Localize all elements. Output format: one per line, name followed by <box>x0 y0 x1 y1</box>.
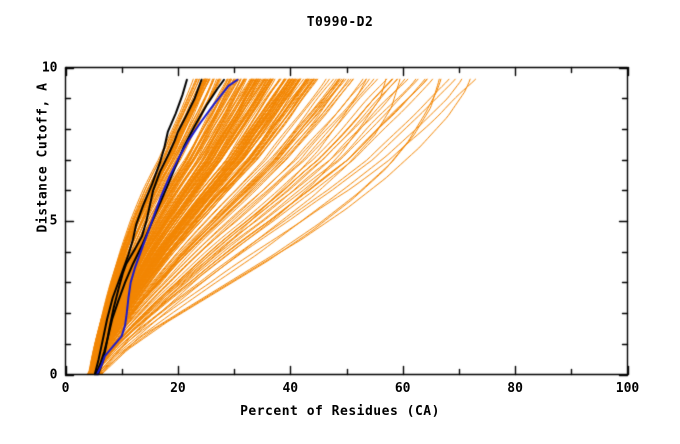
x-tick-label: 0 <box>62 381 70 396</box>
y-tick-label: 5 <box>20 214 58 229</box>
x-tick-label: 20 <box>170 381 186 396</box>
y-tick-label: 0 <box>20 367 58 382</box>
chart-figure: T0990-D2 Distance Cutoff, A Percent of R… <box>0 0 680 440</box>
x-tick-label: 80 <box>507 381 523 396</box>
plot-canvas-container <box>0 0 680 444</box>
y-tick-label: 10 <box>20 60 58 75</box>
x-tick-label: 100 <box>616 381 639 396</box>
x-tick-label: 60 <box>395 381 411 396</box>
plot-canvas <box>0 0 680 440</box>
x-tick-label: 40 <box>282 381 298 396</box>
